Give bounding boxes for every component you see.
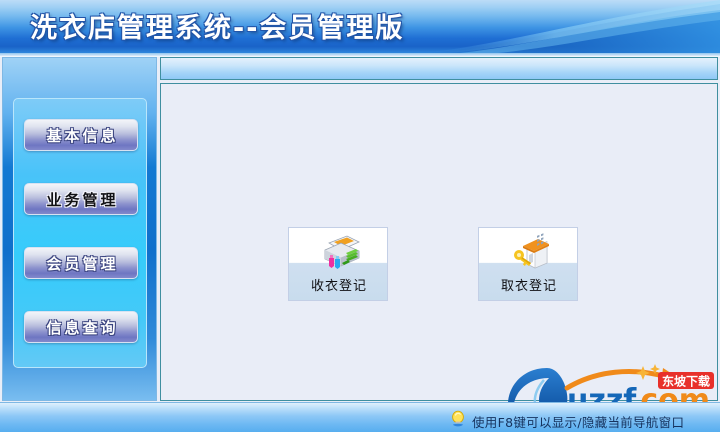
tile-receive-clothes-registration[interactable]: 收衣登记	[288, 227, 388, 301]
main-content-area: 收衣登记	[160, 83, 718, 401]
sidebar-item-label: 会员管理	[43, 253, 118, 274]
application-window: 洗衣店管理系统--会员管理版 基本信息 业务管理 会员管理 信息查询	[0, 0, 720, 432]
tile-label: 取衣登记	[479, 275, 579, 294]
house-key-icon	[479, 230, 579, 276]
lightbulb-icon	[450, 410, 466, 428]
sidebar-item-label: 基本信息	[43, 125, 118, 146]
main-toolbar	[160, 57, 718, 80]
status-hint-text: 使用F8键可以显示/隐藏当前导航窗口	[472, 412, 684, 431]
sidebar-item-info-query[interactable]: 信息查询	[24, 311, 138, 343]
sidebar-item-label: 业务管理	[43, 189, 118, 210]
sidebar-item-business-management[interactable]: 业务管理	[24, 183, 138, 215]
main-panel: 收衣登记	[160, 57, 718, 401]
title-bar: 洗衣店管理系统--会员管理版	[0, 0, 720, 53]
sidebar-item-basic-info[interactable]: 基本信息	[24, 119, 138, 151]
tile-label: 收衣登记	[289, 275, 389, 294]
header-decorative-swoosh	[420, 0, 720, 53]
navigation-sidebar: 基本信息 业务管理 会员管理 信息查询	[2, 57, 157, 401]
printer-clothes-icon	[289, 230, 389, 276]
sidebar-item-member-management[interactable]: 会员管理	[24, 247, 138, 279]
tile-pickup-clothes-registration[interactable]: 取衣登记	[478, 227, 578, 301]
navigation-button-panel: 基本信息 业务管理 会员管理 信息查询	[13, 98, 147, 368]
sidebar-item-label: 信息查询	[43, 317, 118, 338]
app-title: 洗衣店管理系统--会员管理版	[30, 6, 404, 45]
status-bar: 使用F8键可以显示/隐藏当前导航窗口	[0, 402, 720, 432]
